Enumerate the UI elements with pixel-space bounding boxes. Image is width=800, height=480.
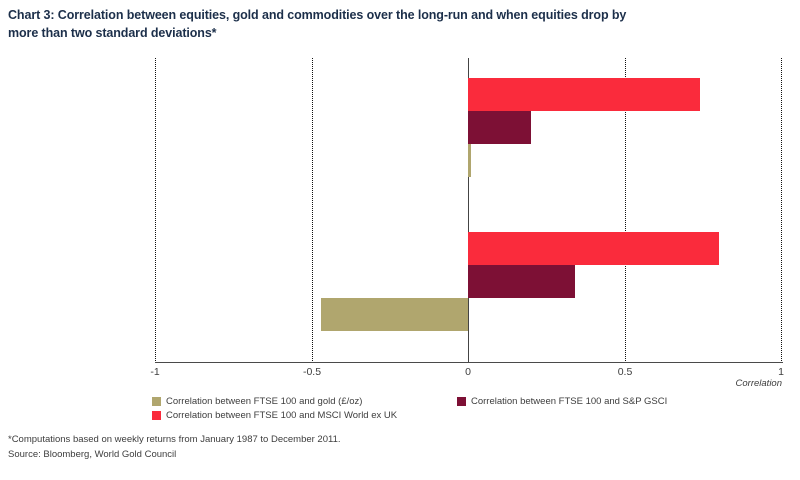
bar-gold-group1: [468, 144, 471, 177]
legend-swatch-gold-icon: [152, 397, 161, 406]
bar-msci-group1: [468, 78, 700, 111]
legend-item-gold[interactable]: Correlation between FTSE 100 and gold (£…: [152, 396, 362, 407]
legend-item-gsci[interactable]: Correlation between FTSE 100 and S&P GSC…: [457, 396, 667, 407]
xtick-0point5: 0.5: [618, 366, 633, 378]
legend-swatch-gsci-icon: [457, 397, 466, 406]
legend-item-msci[interactable]: Correlation between FTSE 100 and MSCI Wo…: [152, 410, 397, 421]
legend-label-gold: Correlation between FTSE 100 and gold (£…: [166, 396, 362, 407]
gridline-neg0point5: [312, 58, 313, 363]
x-axis-line: [155, 362, 783, 363]
xtick-neg0point5: -0.5: [303, 366, 321, 378]
footnotes: *Computations based on weekly returns fr…: [8, 432, 341, 462]
legend-label-msci: Correlation between FTSE 100 and MSCI Wo…: [166, 410, 397, 421]
xtick-0: 0: [465, 366, 471, 378]
footnote-source: Source: Bloomberg, World Gold Council: [8, 447, 341, 462]
legend-swatch-msci-icon: [152, 411, 161, 420]
bar-gsci-group1: [468, 111, 531, 144]
gridline-neg1: [155, 58, 156, 363]
bar-msci-group2: [468, 232, 719, 265]
page-title: Chart 3: Correlation between equities, g…: [8, 6, 648, 42]
bar-gold-group2: [321, 298, 468, 331]
footnote-computations: *Computations based on weekly returns fr…: [8, 432, 341, 447]
plot-area: [155, 58, 782, 363]
gridline-1: [781, 58, 782, 363]
xtick-1: 1: [778, 366, 784, 378]
bar-gsci-group2: [468, 265, 575, 298]
xtick-neg1: -1: [150, 366, 159, 378]
legend-label-gsci: Correlation between FTSE 100 and S&P GSC…: [471, 396, 667, 407]
x-axis-title: Correlation: [700, 378, 782, 389]
